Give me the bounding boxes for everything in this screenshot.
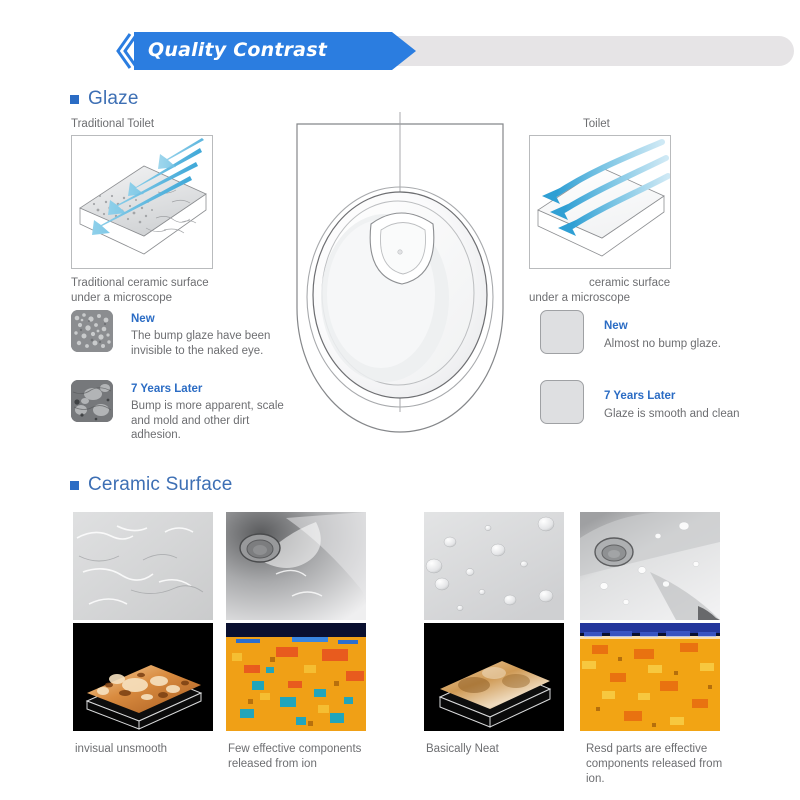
quality-contrast-page: Quality Contrast Glaze Traditional Toile… (0, 0, 800, 800)
toilet-bowl-top-view-diagram (285, 112, 515, 442)
section-label-ceramic-surface: Ceramic Surface (88, 474, 233, 496)
thumbnail-new-right (540, 310, 584, 354)
ceramic-panel-3-top-image (424, 512, 564, 620)
ceramic-panel-2-bottom-image (226, 623, 366, 731)
item-body-new-right: Almost no bump glaze. (604, 337, 794, 352)
ceramic-panel-3-bottom-image (424, 623, 564, 731)
item-title-7y-left: 7 Years Later (131, 383, 202, 395)
ceramic-panel-1-caption: invisual unsmooth (75, 742, 225, 757)
new-ceramic-microscope-diagram (529, 135, 671, 269)
section-label-glaze: Glaze (88, 88, 139, 110)
item-title-7y-right: 7 Years Later (604, 390, 675, 402)
square-bullet-icon (70, 481, 79, 490)
item-body-7y-left: Bump is more apparent, scale and mold an… (131, 399, 311, 443)
thumbnail-7-years-later-right (540, 380, 584, 424)
item-body-new-left: The bump glaze have been invisible to th… (131, 329, 311, 358)
left-column-title: Traditional Toilet (71, 118, 154, 130)
ceramic-panel-2-caption: Few effective components released from i… (228, 742, 388, 772)
ceramic-panel-4-bottom-image (580, 623, 720, 731)
ceramic-panel-4-top-image (580, 512, 720, 620)
page-title: Quality Contrast (148, 39, 327, 61)
section-heading-glaze: Glaze (70, 88, 139, 110)
square-bullet-icon (70, 95, 79, 104)
item-body-7y-right: Glaze is smooth and clean (604, 407, 794, 422)
page-header-banner: Quality Contrast (58, 32, 738, 70)
right-column-title: Toilet (583, 118, 610, 130)
item-title-new-left: New (131, 313, 155, 325)
ceramic-panel-1-top-image (73, 512, 213, 620)
left-column-caption: Traditional ceramic surface under a micr… (71, 276, 251, 306)
right-column-caption-line2: under a microscope (529, 291, 630, 306)
right-column-caption-line1: ceramic surface (589, 276, 670, 291)
ceramic-panel-4-caption: Resd parts are effective components rele… (586, 742, 736, 787)
ceramic-panel-3-caption: Basically Neat (426, 742, 576, 757)
traditional-ceramic-microscope-diagram (71, 135, 213, 269)
ceramic-panel-2-top-image (226, 512, 366, 620)
thumbnail-7-years-later-traditional (71, 380, 113, 422)
ceramic-panel-1-bottom-image (73, 623, 213, 731)
thumbnail-new-traditional (71, 310, 113, 352)
item-title-new-right: New (604, 320, 628, 332)
section-heading-ceramic-surface: Ceramic Surface (70, 474, 233, 496)
